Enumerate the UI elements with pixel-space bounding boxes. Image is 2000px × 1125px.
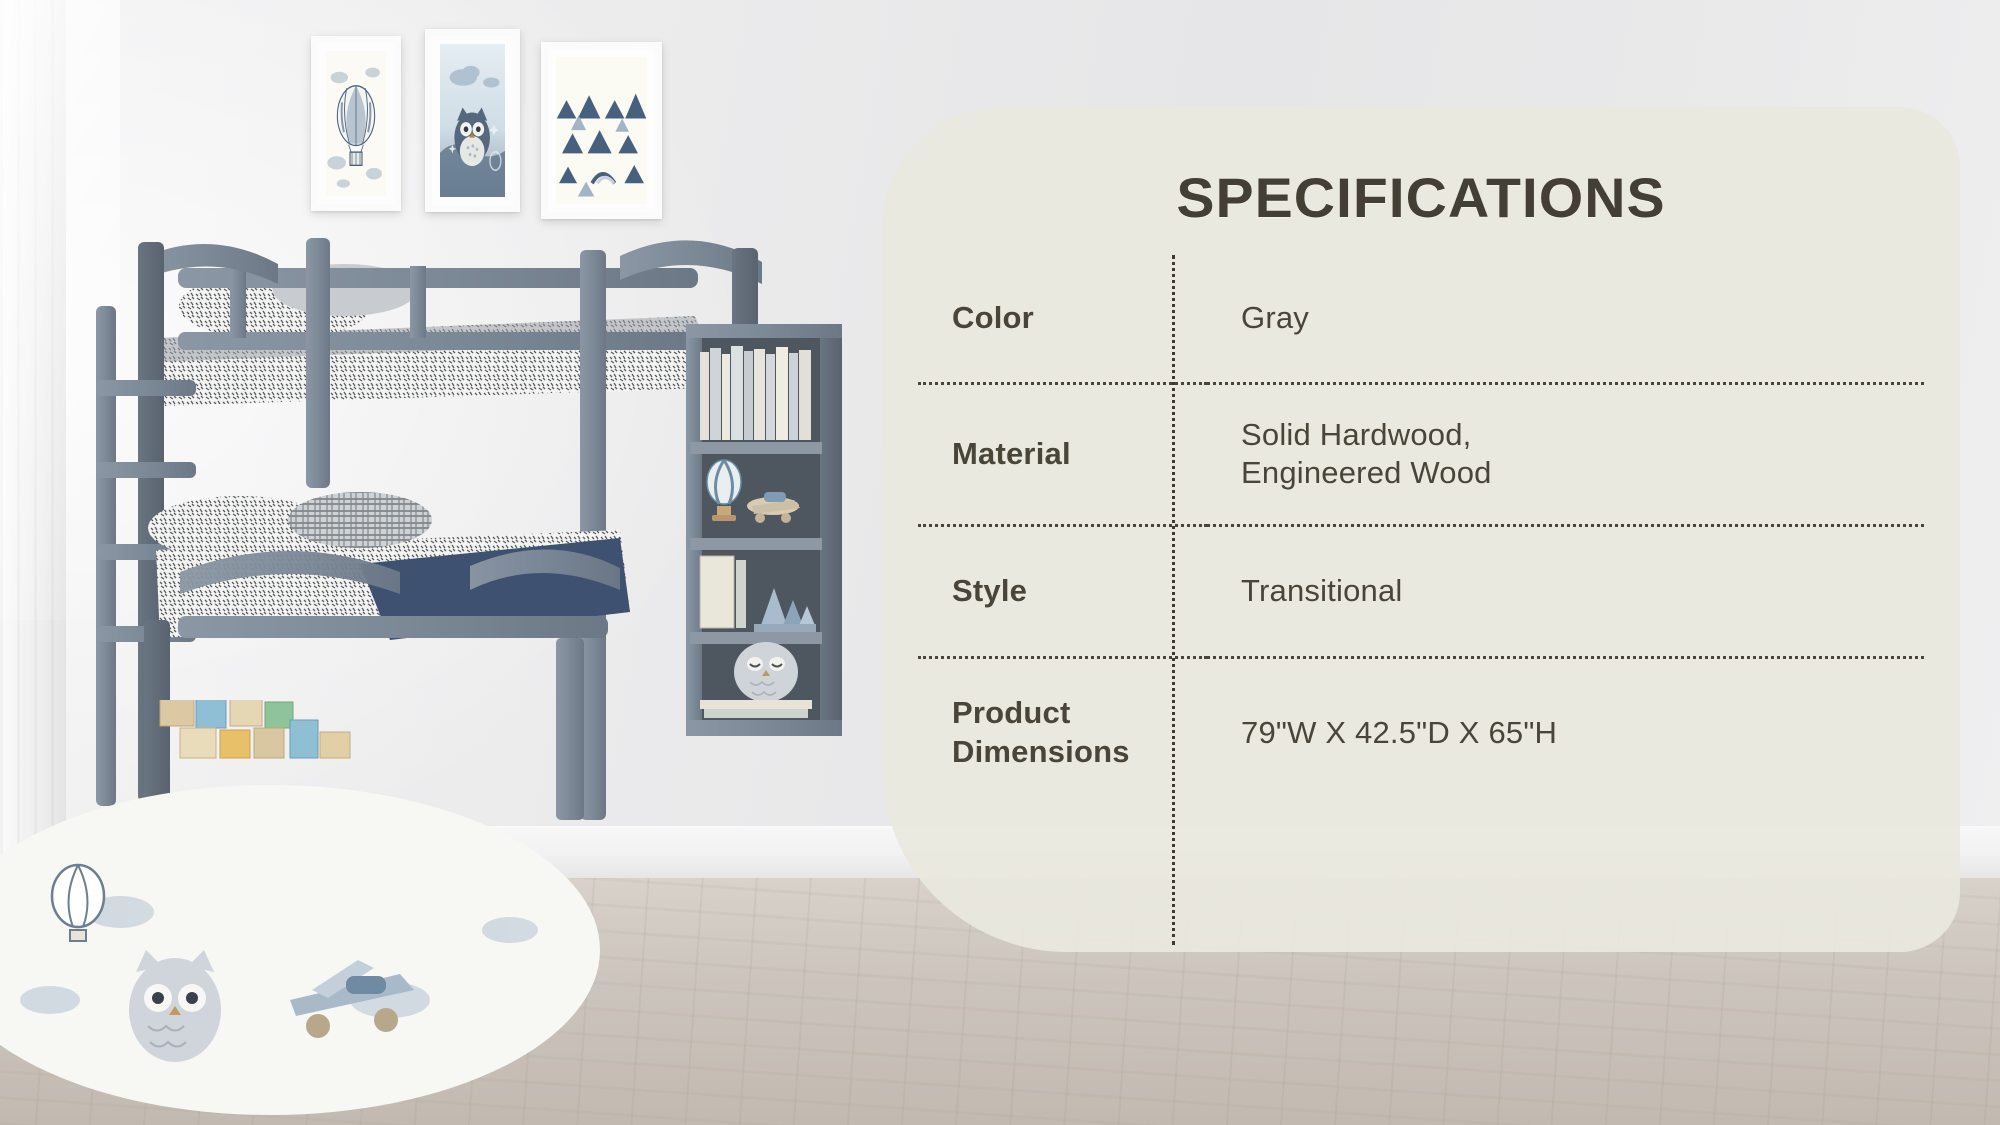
wooden-blocks — [160, 700, 350, 758]
spec-label-color: Color — [918, 255, 1207, 383]
triangles-art-icon — [556, 57, 647, 204]
hot-air-balloon-art-icon — [326, 51, 386, 196]
page-title: SPECIFICATIONS — [871, 165, 1971, 230]
bookcase — [686, 324, 842, 736]
spec-label-product-dimensions: Product Dimensions — [918, 657, 1207, 807]
specifications-table: Color Gray Material Solid Hardwood, Engi… — [918, 255, 1924, 807]
table-row: Material Solid Hardwood, Engineered Wood — [918, 383, 1924, 525]
table-row: Style Transitional — [918, 525, 1924, 657]
spec-value-material: Solid Hardwood, Engineered Wood — [1207, 383, 1924, 525]
owl-cushion — [734, 642, 798, 702]
spec-value-style: Transitional — [1207, 525, 1924, 657]
spec-value-color: Gray — [1207, 255, 1924, 383]
product-spec-image: SPECIFICATIONS Color Gray Material Solid… — [0, 0, 2000, 1125]
play-rug — [0, 700, 610, 1120]
hot-air-balloon-art — [311, 36, 401, 211]
spec-label-style: Style — [918, 525, 1207, 657]
column-divider — [1172, 255, 1175, 945]
spec-label-material: Material — [918, 383, 1207, 525]
spec-value-product-dimensions: 79"W X 42.5"D X 65"H — [1207, 657, 1924, 807]
table-row: Product Dimensions 79"W X 42.5"D X 65"H — [918, 657, 1924, 807]
owl-plush — [129, 950, 221, 1062]
triangles-art — [541, 42, 662, 219]
owl-art — [425, 29, 520, 212]
specifications-panel: SPECIFICATIONS Color Gray Material Solid… — [882, 107, 1960, 952]
table-row: Color Gray — [918, 255, 1924, 383]
owl-art-icon — [440, 44, 505, 197]
